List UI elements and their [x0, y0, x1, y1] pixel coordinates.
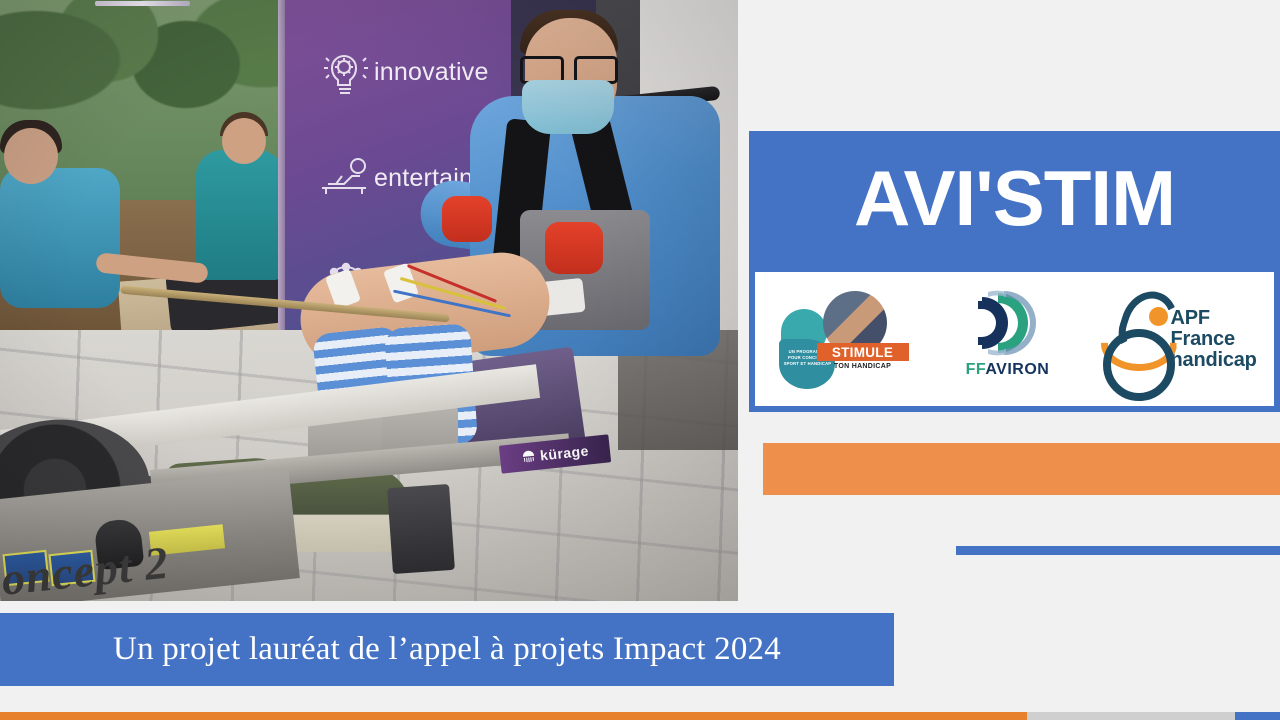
progress-blue-segment	[1235, 712, 1280, 720]
caption-text: Un projet lauréat de l’appel à projets I…	[113, 631, 781, 668]
caption-banner: Un projet lauréat de l’appel à projets I…	[0, 613, 894, 686]
orange-accent-bar	[763, 443, 1280, 495]
stimule-wordmark: STIMULE	[817, 343, 909, 361]
logo-ffaviron[interactable]: FFAVIRON	[948, 289, 1068, 389]
apf-wheelchair-icon	[1099, 291, 1171, 387]
ffaviron-wordmark-aviron: AVIRON	[985, 361, 1049, 378]
apf-wordmark: APF France handicap	[1171, 308, 1257, 371]
bottom-progress-strip	[0, 712, 1280, 720]
ffaviron-wordmark-ff: FF	[966, 361, 986, 378]
apf-line-2: France	[1171, 329, 1257, 350]
logo-stimule[interactable]: UN PROGRAMME POUR CONCILIER SPORT ET HAN…	[771, 287, 917, 391]
progress-grey-segment	[1027, 712, 1235, 720]
title-block: AVI'STIM UN PROGRAMME POUR CONCILIER SPO…	[749, 131, 1280, 412]
partner-logo-strip: UN PROGRAMME POUR CONCILIER SPORT ET HAN…	[755, 272, 1274, 406]
apf-line-3: handicap	[1171, 350, 1257, 371]
presentation-slide: innovative entertaining	[0, 0, 1280, 720]
ffaviron-wave-icon	[948, 289, 1068, 359]
ffaviron-wordmark: FFAVIRON	[948, 361, 1068, 379]
photo-vignette	[0, 0, 738, 601]
hero-photo: innovative entertaining	[0, 0, 738, 601]
blue-accent-rule	[956, 546, 1280, 555]
stimule-tagline: TON HANDICAP	[817, 363, 909, 370]
logo-apf-france-handicap[interactable]: APF France handicap	[1099, 287, 1259, 391]
page-title: AVI'STIM	[749, 159, 1280, 237]
apf-line-1: APF	[1171, 308, 1257, 329]
progress-orange-segment	[0, 712, 1027, 720]
